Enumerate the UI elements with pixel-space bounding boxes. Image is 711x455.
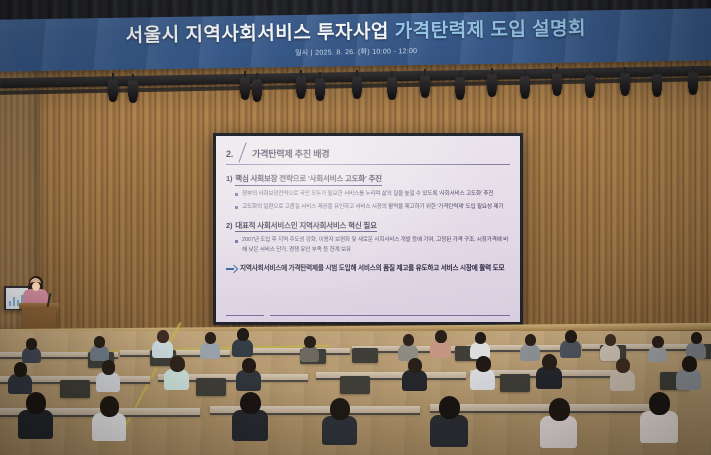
- slide-header: 2. 가격탄력제 추진 배경: [226, 145, 510, 162]
- projection-screen: 2. 가격탄력제 추진 배경 1) 핵심 사회보장 전략으로 '사회서비스 고도…: [216, 136, 520, 322]
- audience-member: [92, 396, 126, 440]
- audience-member: [600, 334, 620, 360]
- audience-member: [398, 334, 418, 360]
- audience-head: [102, 360, 116, 375]
- audience-head: [525, 334, 536, 346]
- stage-spotlight: [387, 77, 397, 97]
- audience-member: [164, 356, 189, 389]
- audience-head: [408, 358, 422, 373]
- presenter-face: [32, 282, 40, 291]
- bullet-dot-icon: [235, 240, 238, 243]
- audience-head: [14, 362, 28, 377]
- stage-spotlight: [688, 72, 698, 92]
- audience-chair: [60, 380, 90, 398]
- audience-head: [237, 328, 249, 341]
- audience-member: [18, 392, 53, 438]
- audience-head: [682, 356, 697, 372]
- audience-head: [170, 356, 185, 372]
- audience-body: [676, 369, 701, 391]
- audience-body: [232, 339, 253, 357]
- audience-body: [96, 372, 120, 392]
- arrow-right-icon: [226, 265, 236, 274]
- audience-member: [402, 358, 427, 390]
- stage-spotlight: [520, 76, 530, 96]
- audience-head: [304, 336, 315, 348]
- bullet-dot-icon: [235, 206, 238, 209]
- audience-member: [540, 398, 577, 446]
- section-2-heading: 대표적 사회서비스인 지역사회서비스 혁신 필요: [235, 220, 377, 233]
- presentation-slide: 2. 가격탄력제 추진 배경 1) 핵심 사회보장 전략으로 '사회서비스 고도…: [216, 136, 520, 322]
- audience-member: [430, 396, 468, 445]
- audience-body: [18, 410, 53, 440]
- audience-member: [430, 330, 451, 357]
- stage-spotlight: [108, 79, 118, 99]
- audience-head: [240, 392, 261, 414]
- audience-member: [236, 358, 261, 390]
- stage-spotlight: [252, 79, 262, 99]
- audience-chair: [196, 378, 226, 396]
- audience-head: [542, 354, 557, 370]
- audience-member: [536, 354, 562, 388]
- section-1-number: 1): [226, 174, 232, 183]
- audience-body: [90, 345, 109, 361]
- slide-footer-rule-right: [270, 315, 510, 316]
- audience-head: [652, 336, 663, 348]
- stage-spotlight: [552, 73, 562, 93]
- audience-body: [322, 416, 357, 446]
- conclusion-text: 지역사회서비스에 가격탄력제를 시범 도입해 서비스의 품질 제고를 유도하고 …: [240, 264, 504, 274]
- bullet-text: 2007년 도입 후 지역 주도성 강화, 이용자 보편화 및 새로운 사회서비…: [242, 236, 510, 254]
- audience-chair: [352, 348, 378, 363]
- slide-slash-decoration: [237, 145, 248, 162]
- slide-section-1: 1) 핵심 사회보장 전략으로 '사회서비스 고도화' 추진 정부의 사회보장전…: [226, 173, 510, 212]
- section-1-heading: 핵심 사회보장 전략으로 '사회서비스 고도화' 추진: [235, 173, 382, 186]
- audience-member: [560, 330, 581, 357]
- audience-head: [649, 392, 671, 415]
- stage-spotlight: [487, 74, 497, 94]
- audience-member: [640, 392, 678, 441]
- stage-spotlight: [455, 77, 465, 97]
- stage-spotlight: [652, 74, 662, 94]
- monitor-chart-bar: [9, 301, 11, 306]
- audience-head: [616, 358, 630, 373]
- podium-top: [19, 303, 59, 309]
- audience-head: [94, 336, 105, 348]
- banner-subtitle: 일시 | 2025. 8. 26. (화) 10:00 - 12:00: [295, 46, 417, 58]
- banner-title-accent: 가격탄력제 도입 설명회: [395, 18, 587, 42]
- banner-title-primary: 서울시 지역사회서비스 투자사업: [126, 21, 390, 46]
- audience-member: [648, 336, 667, 361]
- audience-member: [232, 328, 253, 356]
- audience-member: [610, 358, 635, 390]
- slide-title: 가격탄력제 추진 배경: [252, 147, 329, 160]
- audience-head: [157, 330, 169, 343]
- stage-spotlight: [128, 80, 138, 100]
- slide-footer-rule-left: [226, 315, 264, 316]
- bullet-text: 정부의 사회보장전략으로 국민 모두가 필요한 서비스를 누리며 삶의 질을 높…: [242, 190, 493, 199]
- audience-body: [560, 340, 581, 358]
- audience-table: [316, 372, 466, 378]
- audience-body: [164, 369, 189, 391]
- audience-member: [300, 336, 319, 361]
- audience-head: [330, 398, 350, 420]
- audience-chair: [500, 374, 530, 392]
- audience-head: [403, 334, 414, 346]
- audience-member: [152, 330, 173, 357]
- projection-screen-frame: 2. 가격탄력제 추진 배경 1) 핵심 사회보장 전략으로 '사회서비스 고도…: [213, 133, 523, 325]
- stage-spotlight: [420, 75, 430, 95]
- stage-spotlight: [240, 77, 250, 97]
- audience-body: [430, 340, 451, 358]
- banner-title: 서울시 지역사회서비스 투자사업 가격탄력제 도입 설명회: [126, 19, 587, 45]
- audience-body: [300, 346, 319, 362]
- stage-spotlight: [585, 75, 595, 95]
- section-1-bullet-2: 고도화의 일환으로 고품질 서비스 제공을 유인하고 서비스 시장의 활력을 제…: [226, 203, 510, 212]
- audience-member: [232, 392, 268, 440]
- section-1-bullet-1: 정부의 사회보장전략으로 국민 모두가 필요한 서비스를 누리며 삶의 질을 높…: [226, 190, 510, 199]
- audience-body: [236, 370, 261, 391]
- audience-chair: [340, 376, 370, 394]
- stage-spotlight: [315, 78, 325, 98]
- slide-number: 2.: [226, 149, 233, 159]
- audience-member: [470, 356, 495, 389]
- section-2-number: 2): [226, 221, 232, 230]
- audience-body: [648, 346, 667, 362]
- audience-body: [22, 347, 41, 363]
- audience-body: [92, 413, 126, 442]
- audience-body: [200, 342, 220, 359]
- audience-member: [22, 338, 41, 362]
- stage-spotlight: [352, 76, 362, 96]
- audience-head: [435, 330, 447, 343]
- audience-body: [610, 370, 635, 391]
- audience-member: [96, 360, 120, 391]
- stage-spotlight: [296, 76, 306, 96]
- monitor-chart-bar: [13, 297, 15, 306]
- audience-head: [100, 396, 120, 417]
- audience-member: [8, 362, 32, 393]
- audience-body: [540, 416, 577, 447]
- slide-title-underline: [226, 164, 510, 165]
- audience-member: [322, 398, 357, 444]
- audience-member: [470, 332, 490, 359]
- audience-body: [402, 370, 427, 391]
- section-2-bullet-1: 2007년 도입 후 지역 주도성 강화, 이용자 보편화 및 새로운 사회서비…: [226, 236, 510, 254]
- audience-body: [536, 367, 562, 389]
- seminar-hall-photo: 서울시 지역사회서비스 투자사업 가격탄력제 도입 설명회 일시 | 2025.…: [0, 0, 711, 455]
- audience-body: [430, 415, 468, 447]
- audience-body: [232, 410, 268, 441]
- audience-member: [686, 332, 706, 359]
- audience-head: [439, 396, 461, 419]
- slide-section-2: 2) 대표적 사회서비스인 지역사회서비스 혁신 필요 2007년 도입 후 지…: [226, 220, 510, 255]
- bullet-dot-icon: [235, 193, 238, 196]
- audience-member: [90, 336, 109, 360]
- audience-head: [26, 392, 46, 414]
- slide-footer-rules: [226, 315, 510, 316]
- audience-body: [470, 369, 495, 391]
- audience-head: [565, 330, 577, 343]
- stage-spotlight: [620, 73, 630, 93]
- audience-head: [26, 338, 37, 350]
- audience-head: [605, 334, 616, 346]
- audience-member: [676, 356, 701, 389]
- audience-body: [640, 411, 678, 443]
- audience-head: [242, 358, 256, 373]
- audience-head: [476, 356, 491, 372]
- bullet-text: 고도화의 일환으로 고품질 서비스 제공을 유인하고 서비스 시장의 활력을 제…: [242, 203, 503, 212]
- slide-conclusion: 지역사회서비스에 가격탄력제를 시범 도입해 서비스의 품질 제고를 유도하고 …: [226, 264, 510, 274]
- audience-head: [549, 398, 570, 421]
- audience-member: [200, 332, 220, 359]
